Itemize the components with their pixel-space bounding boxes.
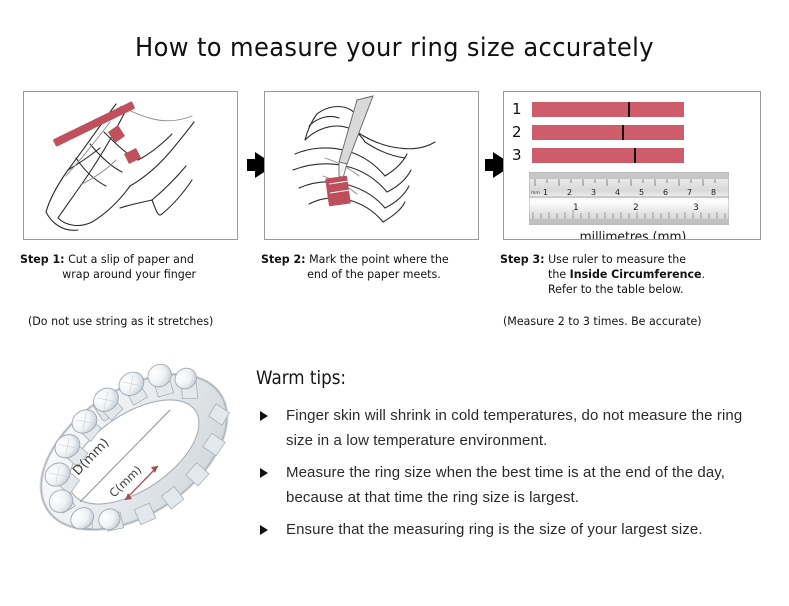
step-2-line2: end of the paper meets. xyxy=(261,267,487,282)
tip-text: Ensure that the measuring ring is the si… xyxy=(286,521,703,538)
step-3-ruler-panel: 1 2 3 xyxy=(503,91,761,240)
strip-number: 2 xyxy=(512,123,532,142)
tip-item: Measure the ring size when the best time… xyxy=(258,460,768,510)
step-1-label: Step 1: xyxy=(20,252,65,266)
tip-text: Measure the ring size when the best time… xyxy=(286,464,725,506)
svg-text:7: 7 xyxy=(687,188,692,197)
step-1-illustration-panel xyxy=(23,91,238,240)
strip-mark xyxy=(628,102,630,117)
strip-mark xyxy=(622,125,624,140)
strip-row: 3 xyxy=(512,146,754,165)
triangle-bullet-icon xyxy=(260,411,268,421)
hand-marking-paper-drawing xyxy=(265,92,477,238)
svg-text:2: 2 xyxy=(633,203,639,213)
step-3-caption: Step 3: Use ruler to measure the the Ins… xyxy=(500,252,754,297)
step-2-caption: Step 2: Mark the point where the end of … xyxy=(261,252,487,282)
tip-item: Finger skin will shrink in cold temperat… xyxy=(258,403,768,453)
svg-text:8: 8 xyxy=(711,188,716,197)
paper-strip-bar xyxy=(532,102,684,117)
step-1-note: (Do not use string as it stretches) xyxy=(28,314,213,328)
steel-ruler-graphic: 123 456 78 mm 123 xyxy=(529,172,729,225)
tip-item: Ensure that the measuring ring is the si… xyxy=(258,517,768,542)
svg-text:2: 2 xyxy=(567,188,572,197)
svg-text:3: 3 xyxy=(693,203,699,213)
step-3-line1: Use ruler to measure the xyxy=(548,252,686,266)
paper-strip-bar xyxy=(532,148,684,163)
step-3-line3: Refer to the table below. xyxy=(500,282,754,297)
step-2-label: Step 2: xyxy=(261,252,306,266)
svg-text:4: 4 xyxy=(615,188,620,197)
ruler-unit-caption: millimetres (mm) xyxy=(510,230,755,240)
step-3-note: (Measure 2 to 3 times. Be accurate) xyxy=(503,314,702,328)
ring-dimension-diagram: D(mm) C(mm) xyxy=(18,352,250,552)
warm-tips-list: Finger skin will shrink in cold temperat… xyxy=(258,403,768,549)
step-1-line2: wrap around your finger xyxy=(20,267,241,282)
triangle-bullet-icon xyxy=(260,468,268,478)
step-3-line2-suffix: . xyxy=(702,267,706,281)
ring-size-guide-infographic: How to measure your ring size accurately xyxy=(0,0,789,606)
svg-text:5: 5 xyxy=(639,188,644,197)
step-1-line1: Cut a slip of paper and xyxy=(68,252,194,266)
measured-paper-strips: 1 2 3 xyxy=(512,100,754,169)
strip-row: 1 xyxy=(512,100,754,119)
hand-with-paper-strip-drawing xyxy=(24,92,236,238)
tip-text: Finger skin will shrink in cold temperat… xyxy=(286,407,742,449)
step-1-caption: Step 1: Cut a slip of paper and wrap aro… xyxy=(20,252,241,282)
strip-number: 3 xyxy=(512,146,532,165)
strip-mark xyxy=(634,148,636,163)
step-2-line1: Mark the point where the xyxy=(309,252,449,266)
svg-text:6: 6 xyxy=(663,188,668,197)
step-3-line2-prefix: the xyxy=(548,267,570,281)
warm-tips-heading: Warm tips: xyxy=(256,367,346,389)
step-3-line2: the Inside Circumference. xyxy=(500,267,754,282)
paper-strip-bar xyxy=(532,125,684,140)
triangle-bullet-icon xyxy=(260,525,268,535)
step-3-label: Step 3: xyxy=(500,252,545,266)
ruler-mm-unit: mm xyxy=(531,191,540,196)
svg-text:3: 3 xyxy=(591,188,596,197)
svg-text:1: 1 xyxy=(573,203,579,213)
svg-text:1: 1 xyxy=(543,188,548,197)
page-title: How to measure your ring size accurately xyxy=(28,33,762,63)
strip-number: 1 xyxy=(512,100,532,119)
step-3-inside-circumference-emphasis: Inside Circumference xyxy=(570,267,702,281)
strip-row: 2 xyxy=(512,123,754,142)
step-2-illustration-panel xyxy=(264,91,479,240)
